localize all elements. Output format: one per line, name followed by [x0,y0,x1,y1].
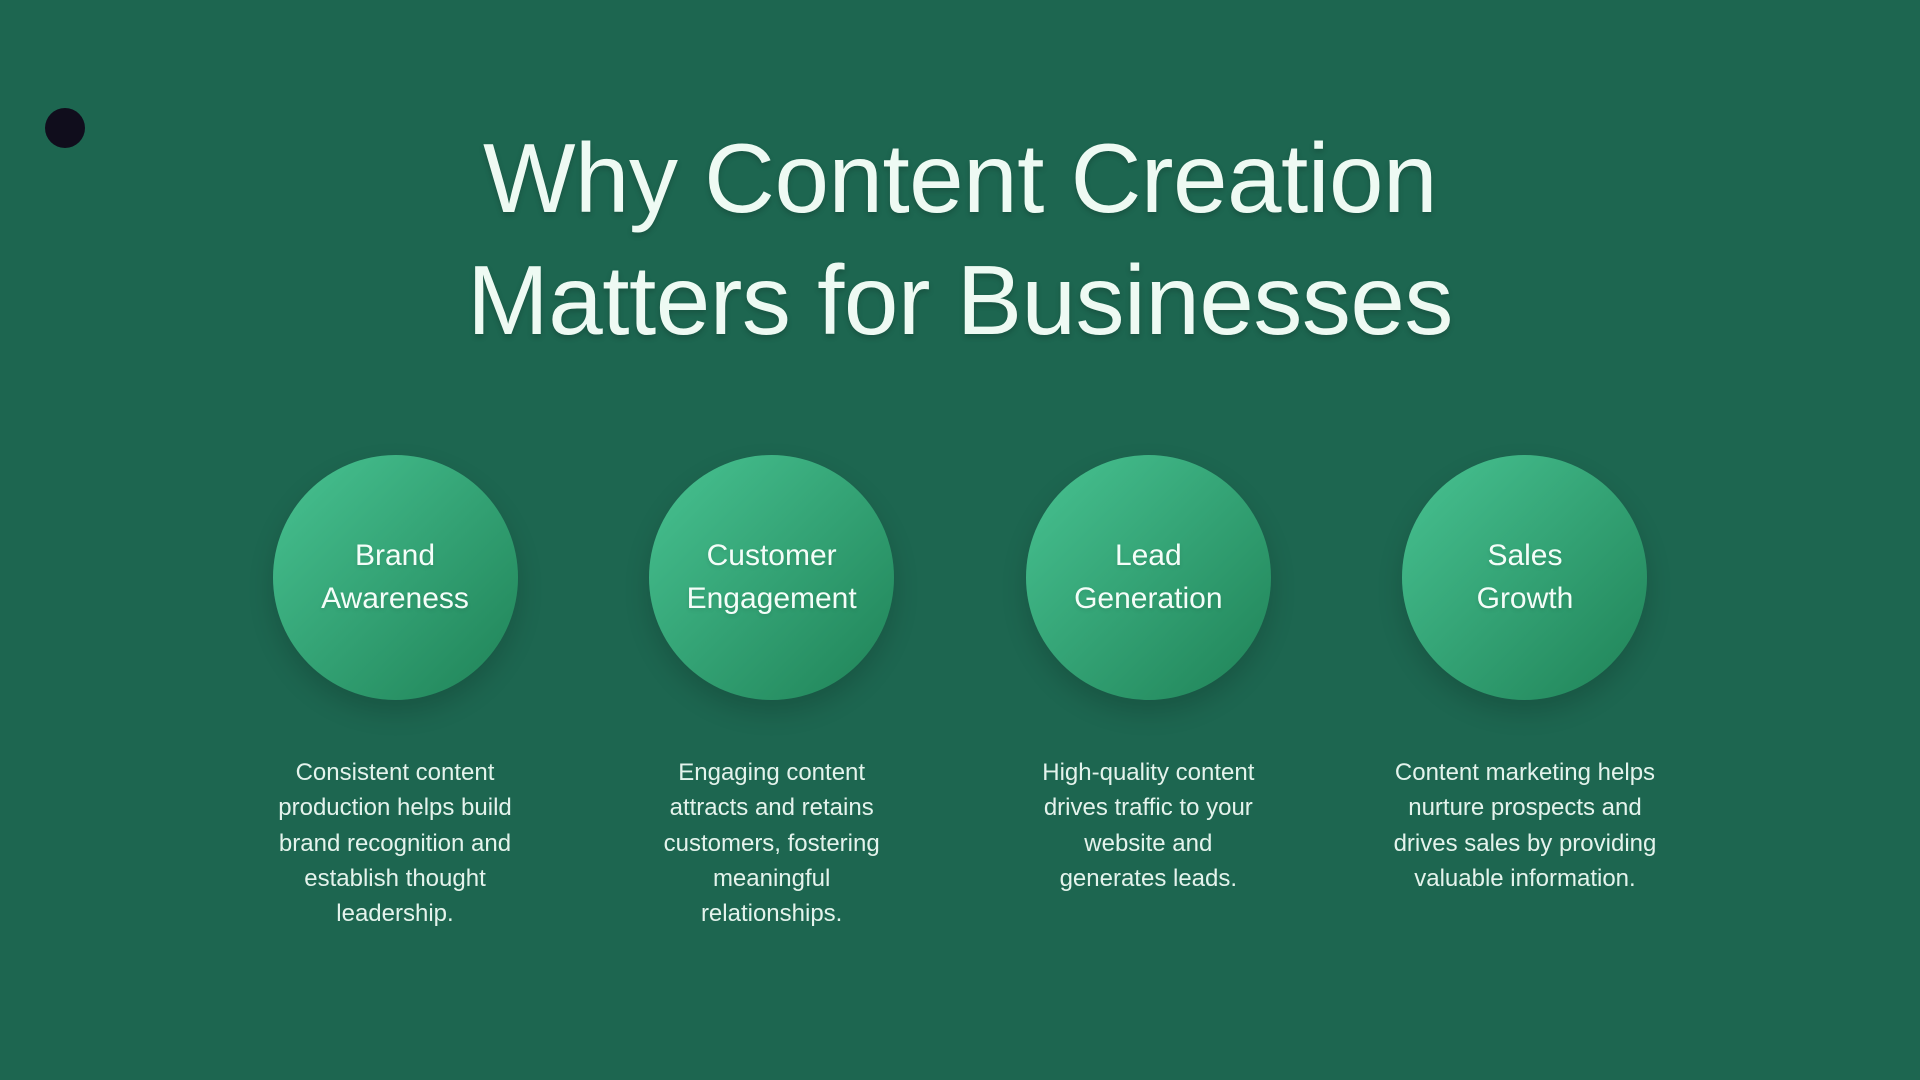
circle-badge-customer-engagement[interactable]: Customer Engagement [649,455,894,700]
title-line-2: Matters for Businesses [0,240,1920,362]
benefit-description: Content marketing helps nurture prospect… [1385,755,1665,896]
circle-label-line-1: Brand [355,539,435,572]
circle-label-line-1: Lead [1115,539,1182,572]
circle-label-line-1: Customer [707,539,837,572]
circle-label-line-2: Growth [1477,582,1574,615]
circle-label: Sales Growth [1459,535,1592,620]
benefit-card-lead-generation[interactable]: Lead Generation High-quality content dri… [998,455,1298,896]
benefit-description: Consistent content production helps buil… [266,755,524,931]
circle-label-line-2: Engagement [687,582,857,615]
circle-label: Customer Engagement [669,535,875,620]
title-line-1: Why Content Creation [0,118,1920,240]
circle-label-line-2: Generation [1074,582,1222,615]
circle-label: Brand Awareness [303,535,487,620]
circle-label: Lead Generation [1056,535,1240,620]
circle-label-line-2: Awareness [321,582,469,615]
circle-badge-sales-growth[interactable]: Sales Growth [1402,455,1647,700]
benefit-description: Engaging content attracts and retains cu… [652,755,892,931]
benefit-card-customer-engagement[interactable]: Customer Engagement Engaging content att… [622,455,922,931]
page-title: Why Content Creation Matters for Busines… [0,118,1920,361]
benefit-card-sales-growth[interactable]: Sales Growth Content marketing helps nur… [1375,455,1675,896]
slide-canvas: Why Content Creation Matters for Busines… [0,0,1920,1080]
slide-title: Why Content Creation Matters for Busines… [0,118,1920,361]
benefit-card-list: Brand Awareness Consistent content produ… [245,455,1675,931]
circle-badge-brand-awareness[interactable]: Brand Awareness [273,455,518,700]
circle-label-line-1: Sales [1487,539,1562,572]
circle-badge-lead-generation[interactable]: Lead Generation [1026,455,1271,700]
benefit-card-brand-awareness[interactable]: Brand Awareness Consistent content produ… [245,455,545,931]
benefit-description: High-quality content drives traffic to y… [1028,755,1268,896]
